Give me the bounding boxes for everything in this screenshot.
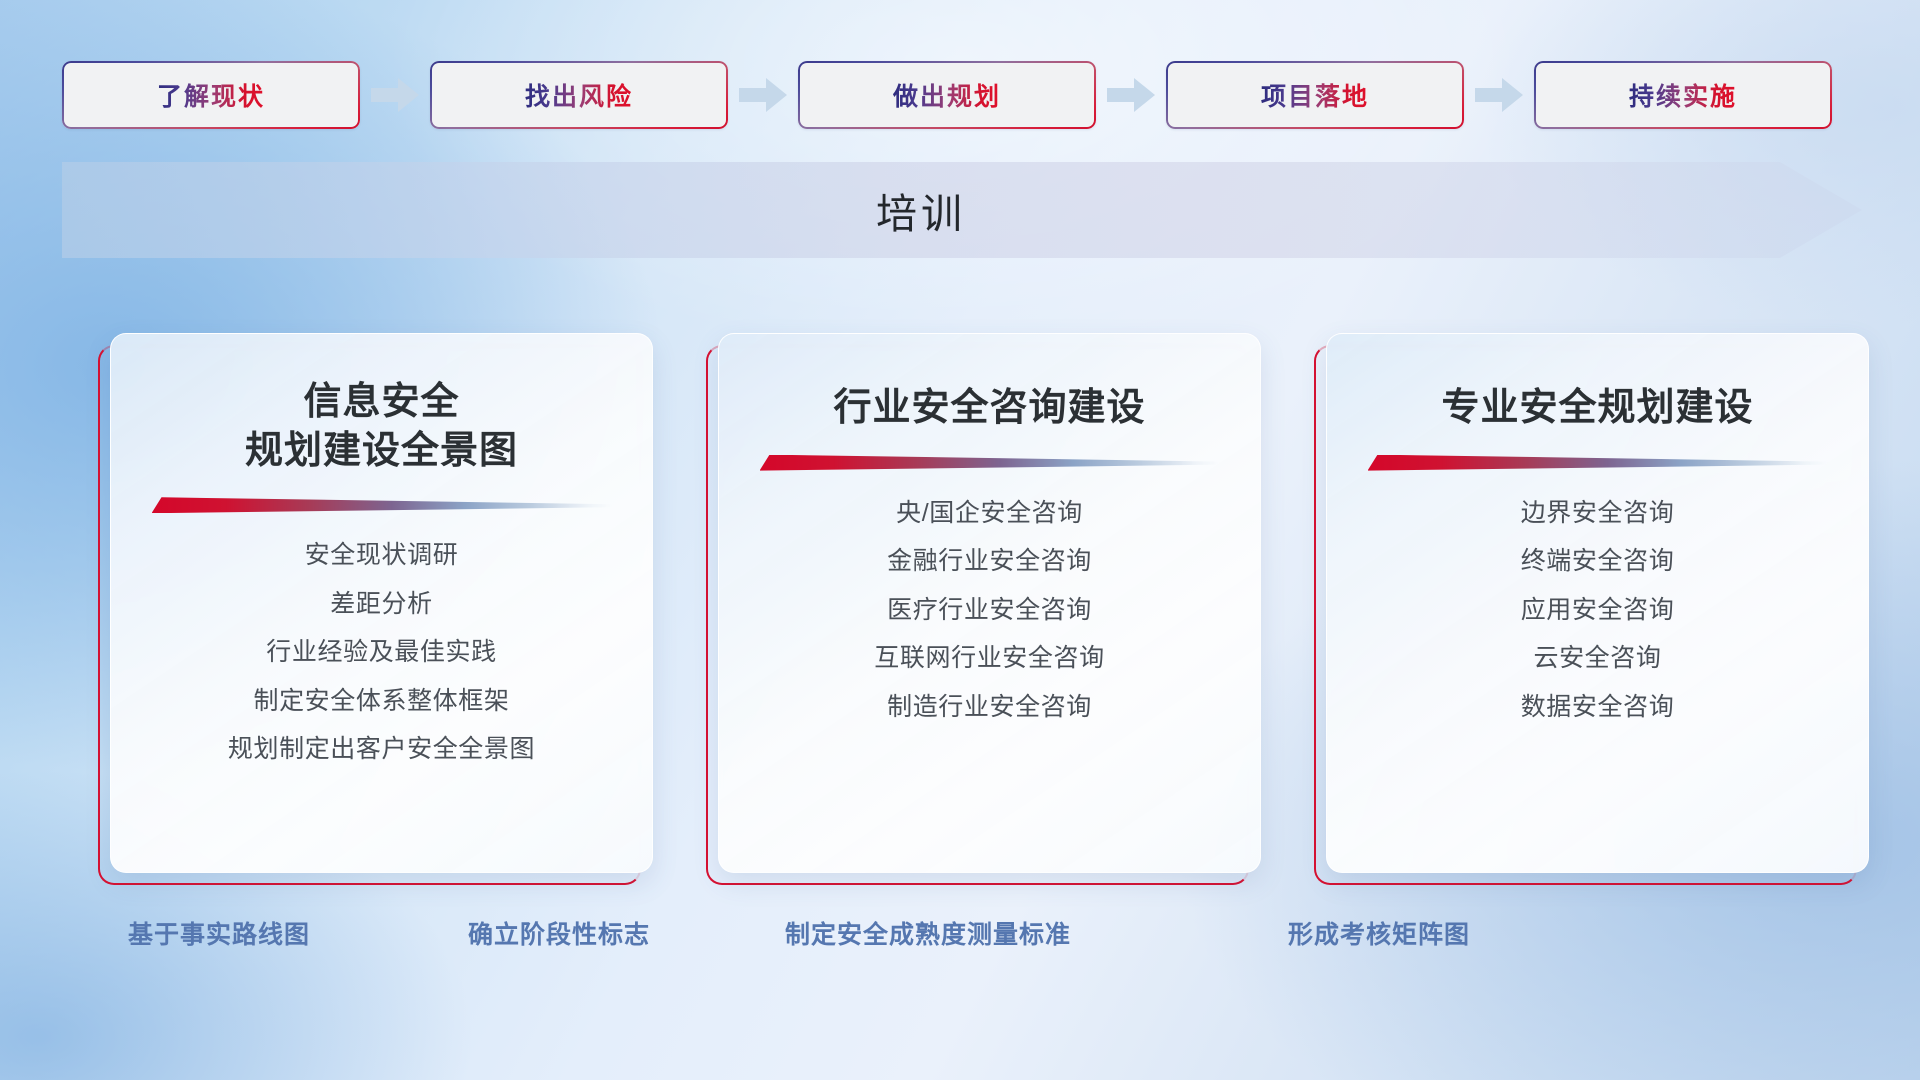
step-box-1[interactable]: 了解现状 [62, 61, 360, 129]
card-divider-1 [152, 497, 612, 513]
step-box-4[interactable]: 项目落地 [1166, 61, 1464, 129]
card-row: 信息安全 规划建设全景图 安全现状调研 差距分析 行业经验及最佳实践 制定安全体… [110, 333, 1870, 873]
step-arrow-icon-3 [1096, 60, 1166, 130]
list-item: 行业经验及最佳实践 [266, 632, 496, 673]
card-wrap-3: 专业安全规划建设 边界安全咨询 终端安全咨询 应用安全咨询 云安全咨询 数据安全… [1326, 333, 1869, 873]
list-item: 医疗行业安全咨询 [887, 590, 1092, 631]
card-divider-3 [1368, 455, 1828, 471]
list-item: 安全现状调研 [305, 535, 459, 576]
list-item: 制造行业安全咨询 [887, 687, 1092, 728]
caption-4: 形成考核矩阵图 [1288, 915, 1470, 951]
step-label-5: 持续实施 [1629, 77, 1737, 113]
step-box-2[interactable]: 找出风险 [430, 61, 728, 129]
caption-row: 基于事实路线图 确立阶段性标志 制定安全成熟度测量标准 形成考核矩阵图 [0, 915, 1920, 965]
card-wrap-2: 行业安全咨询建设 央/国企安全咨询 金融行业安全咨询 医疗行业安全咨询 互联网行… [718, 333, 1261, 873]
list-item: 差距分析 [330, 584, 432, 625]
card-title-2: 行业安全咨询建设 [719, 384, 1260, 433]
list-item: 制定安全体系整体框架 [253, 681, 509, 722]
card-title-1: 信息安全 规划建设全景图 [111, 378, 652, 475]
card-wrap-1: 信息安全 规划建设全景图 安全现状调研 差距分析 行业经验及最佳实践 制定安全体… [110, 333, 653, 873]
step-box-3[interactable]: 做出规划 [798, 61, 1096, 129]
card-divider-2 [760, 455, 1220, 471]
process-steps: 了解现状 找出风险 做出规划 项目落地 [62, 60, 1862, 130]
card-list-1: 安全现状调研 差距分析 行业经验及最佳实践 制定安全体系整体框架 规划制定出客户… [111, 535, 652, 770]
step-label-3: 做出规划 [893, 77, 1001, 113]
card-list-2: 央/国企安全咨询 金融行业安全咨询 医疗行业安全咨询 互联网行业安全咨询 制造行… [719, 493, 1260, 728]
list-item: 互联网行业安全咨询 [874, 638, 1104, 679]
list-item: 边界安全咨询 [1521, 493, 1675, 534]
step-label-1: 了解现状 [157, 77, 265, 113]
step-box-5[interactable]: 持续实施 [1534, 61, 1832, 129]
slide-canvas: 了解现状 找出风险 做出规划 项目落地 [0, 0, 1920, 1080]
card-1[interactable]: 信息安全 规划建设全景图 安全现状调研 差距分析 行业经验及最佳实践 制定安全体… [110, 333, 653, 873]
step-label-2: 找出风险 [525, 77, 633, 113]
card-list-3: 边界安全咨询 终端安全咨询 应用安全咨询 云安全咨询 数据安全咨询 [1327, 493, 1868, 728]
caption-1: 基于事实路线图 [128, 915, 310, 951]
card-2[interactable]: 行业安全咨询建设 央/国企安全咨询 金融行业安全咨询 医疗行业安全咨询 互联网行… [718, 333, 1261, 873]
step-label-4: 项目落地 [1261, 77, 1369, 113]
step-arrow-icon-1 [360, 60, 430, 130]
banner-title: 培训 [62, 162, 1862, 258]
step-arrow-icon-2 [728, 60, 798, 130]
list-item: 规划制定出客户安全全景图 [228, 729, 535, 770]
card-title-3: 专业安全规划建设 [1327, 384, 1868, 433]
list-item: 云安全咨询 [1533, 638, 1661, 679]
list-item: 金融行业安全咨询 [887, 541, 1092, 582]
caption-3: 制定安全成熟度测量标准 [785, 915, 1071, 951]
card-3[interactable]: 专业安全规划建设 边界安全咨询 终端安全咨询 应用安全咨询 云安全咨询 数据安全… [1326, 333, 1869, 873]
training-banner: 培训 [62, 162, 1862, 258]
list-item: 数据安全咨询 [1521, 687, 1675, 728]
caption-2: 确立阶段性标志 [468, 915, 650, 951]
list-item: 央/国企安全咨询 [896, 493, 1083, 534]
step-arrow-icon-4 [1464, 60, 1534, 130]
list-item: 应用安全咨询 [1521, 590, 1675, 631]
list-item: 终端安全咨询 [1521, 541, 1675, 582]
